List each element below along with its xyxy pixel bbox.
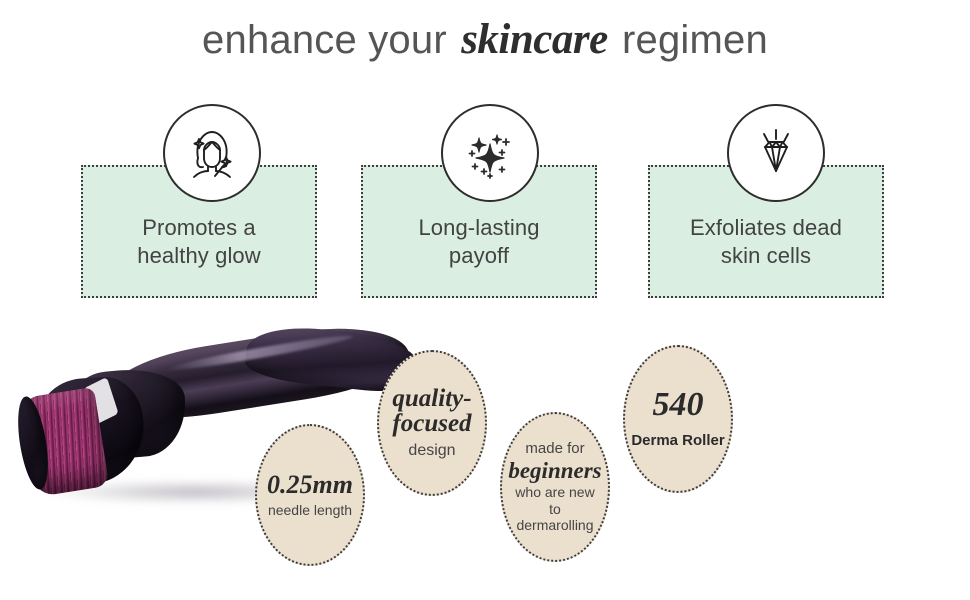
fact-sub-text: who are new to dermarolling (508, 484, 602, 534)
page-title-prefix: enhance your (202, 18, 447, 62)
fact-main-text: beginners (508, 459, 601, 482)
fact-sub-text: Derma Roller (631, 432, 724, 450)
woman-face-sparkle-icon (163, 104, 261, 202)
fact-sub-text: needle length (268, 502, 352, 519)
sparkle-stars-icon (441, 104, 539, 202)
diamond-gem-icon (727, 104, 825, 202)
fact-circle-needle-length: 0.25mm needle length (255, 424, 365, 566)
fact-circle-quality-focused: quality- focused design (377, 350, 487, 496)
fact-sub-text: design (408, 442, 455, 461)
feature-card-label: Promotes a healthy glow (137, 214, 261, 270)
feature-card-label: Exfoliates dead skin cells (690, 214, 842, 270)
fact-circle-540-derma-roller: 540 Derma Roller (623, 345, 733, 493)
fact-main-text: 540 (653, 388, 704, 422)
feature-card-label: Long-lasting payoff (418, 214, 539, 270)
page-title-suffix: regimen (622, 18, 768, 62)
fact-circle-beginners: made for beginners who are new to dermar… (500, 412, 610, 562)
infographic-page: enhance your skincare regimen Promotes a… (0, 0, 970, 600)
fact-main-text: quality- focused (392, 386, 471, 436)
page-title: enhance your skincare regimen (0, 16, 970, 63)
fact-main-text: 0.25mm (267, 472, 353, 498)
page-title-emphasis: skincare (458, 16, 611, 63)
fact-pre-text: made for (525, 440, 584, 458)
